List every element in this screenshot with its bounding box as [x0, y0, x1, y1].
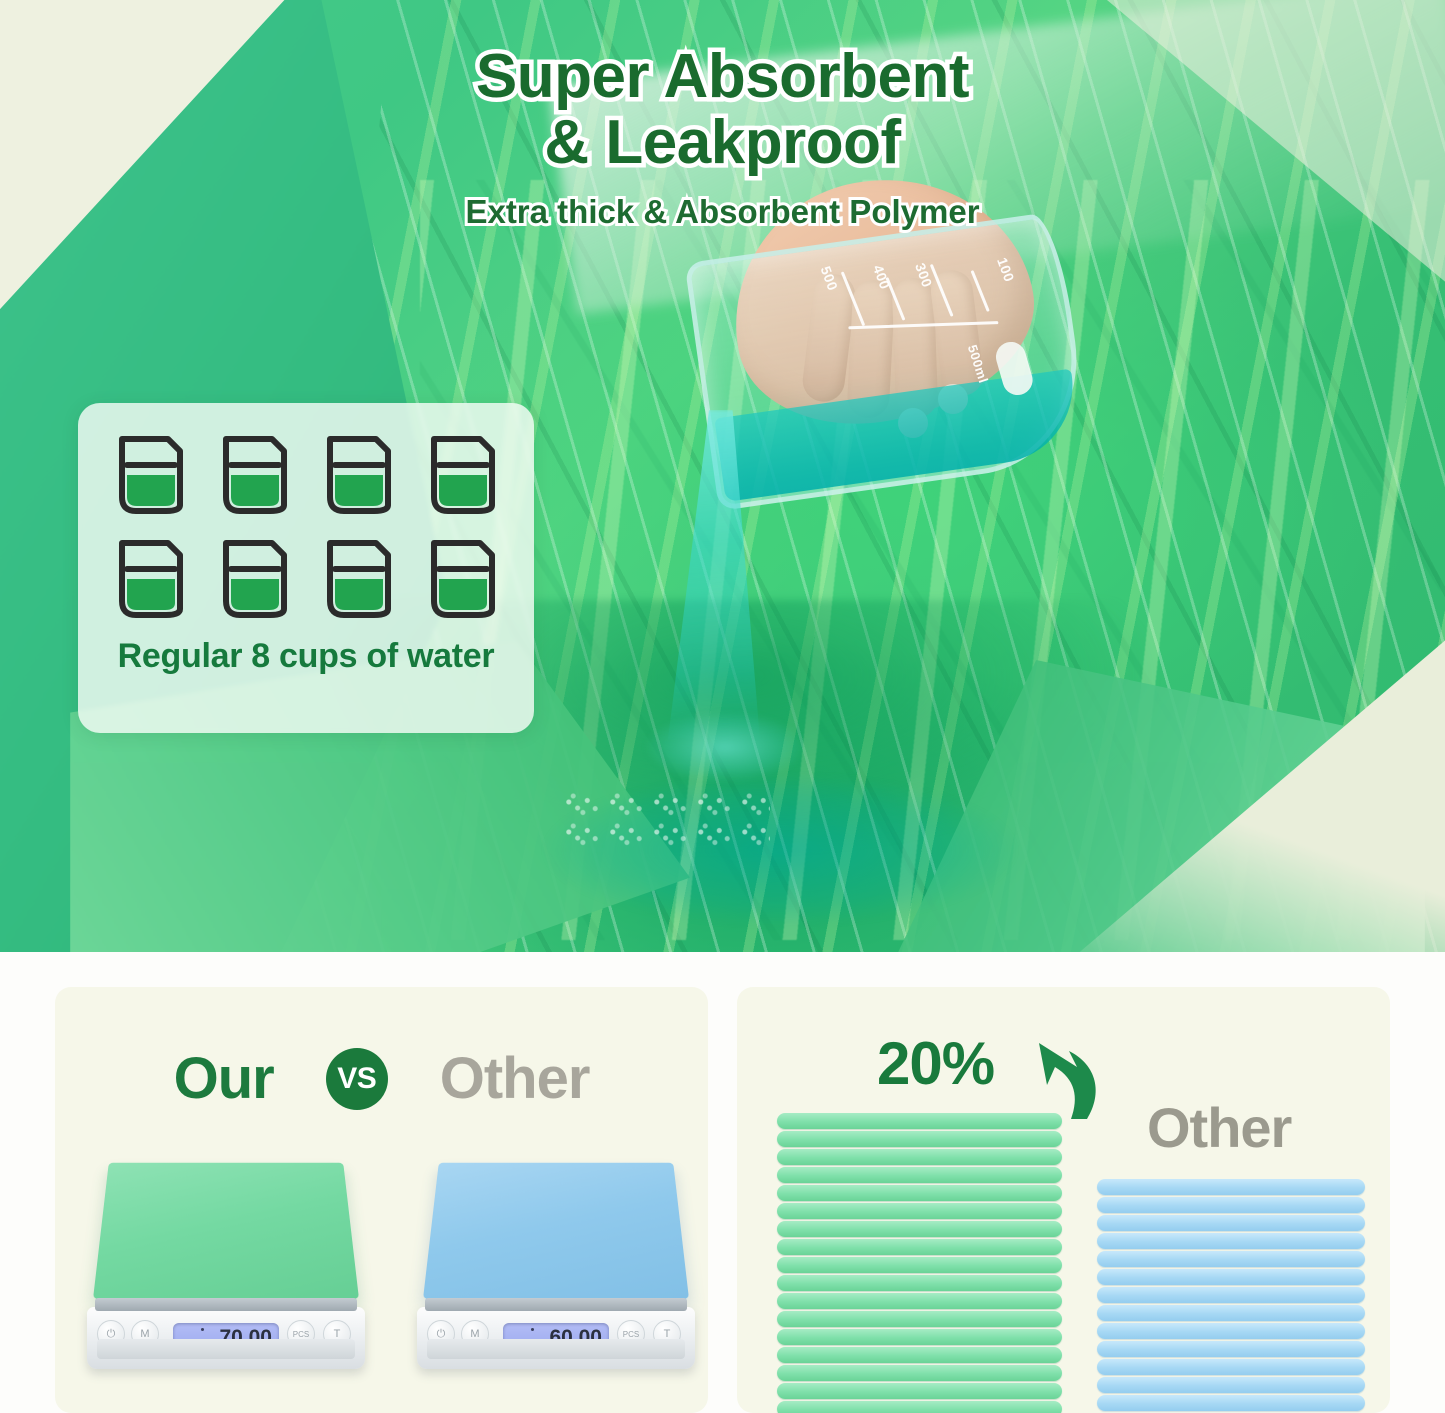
- other-label-thickness: Other: [1147, 1095, 1291, 1160]
- graduation-mark: [930, 264, 954, 317]
- scale-our: 70.00 ⏻ 开关 M 单位 PCS 计数 T 清零: [87, 1117, 365, 1395]
- stack-our-pads: [777, 1113, 1062, 1413]
- pad-layer: [777, 1203, 1062, 1219]
- headline-line-1: Super Absorbent: [476, 42, 969, 111]
- page-title: Super Absorbent & Leakproof: [0, 44, 1445, 175]
- hero-text-block: Super Absorbent & Leakproof Extra thick …: [0, 44, 1445, 231]
- pad-layer: [777, 1293, 1062, 1309]
- beaker-scene: 500 400 300 100 500ml: [700, 232, 1100, 532]
- scale-plate: [425, 1298, 687, 1311]
- graduation-label-100: 100: [994, 255, 1018, 284]
- pad-sample-blue: [423, 1163, 689, 1299]
- beaker-cup-icon: [426, 429, 498, 519]
- liquid-splash: [630, 702, 820, 792]
- beaker-cup-icon: [114, 533, 186, 623]
- graduation-baseline: [848, 321, 998, 329]
- headline-line-2: & Leakproof: [0, 110, 1445, 176]
- scale-body: 60.00 ⏻ 开关 M 单位 PCS 计数 T 清零: [417, 1307, 695, 1369]
- pad-layer: [1097, 1395, 1365, 1411]
- scale-base: [427, 1339, 685, 1359]
- beaker-cup-icon: [218, 533, 290, 623]
- beaker-capacity-label: 500ml: [965, 343, 991, 385]
- glass-beaker: 500 400 300 100 500ml: [684, 211, 1091, 511]
- pad-layer: [777, 1131, 1062, 1147]
- other-label: Other: [440, 1045, 590, 1112]
- pad-layer: [777, 1275, 1062, 1291]
- our-label: Our: [174, 1045, 274, 1112]
- pad-layer: [777, 1383, 1062, 1399]
- scale-base: [97, 1339, 355, 1359]
- pad-layer: [777, 1221, 1062, 1237]
- thickness-comparison-panel: 20% Other: [737, 987, 1390, 1413]
- pad-layer: [1097, 1377, 1365, 1393]
- pad-layer: [777, 1365, 1062, 1381]
- graduation-label-500: 500: [818, 264, 842, 293]
- pad-layer: [777, 1185, 1062, 1201]
- scale-body: 70.00 ⏻ 开关 M 单位 PCS 计数 T 清零: [87, 1307, 365, 1369]
- comparison-header-row: Our VS Other: [55, 1045, 708, 1112]
- stack-other-pads: [1097, 1179, 1365, 1411]
- beaker-cup-icon: [322, 533, 394, 623]
- pad-layer: [1097, 1341, 1365, 1357]
- cups-grid: [104, 429, 508, 623]
- scale-other: 60.00 ⏻ 开关 M 单位 PCS 计数 T 清零: [417, 1117, 695, 1395]
- beaker-cup-icon: [322, 429, 394, 519]
- hero-section: 500 400 300 100 500ml Super Absorbent & …: [0, 0, 1445, 952]
- pad-layer: [777, 1149, 1062, 1165]
- beaker-cup-icon: [426, 533, 498, 623]
- pad-layer: [777, 1329, 1062, 1345]
- beaker-cup-icon: [114, 429, 186, 519]
- pad-layer: [777, 1401, 1062, 1413]
- pad-layer: [1097, 1305, 1365, 1321]
- pad-sample-green: [93, 1163, 359, 1299]
- vs-badge: VS: [326, 1048, 388, 1110]
- cups-caption: Regular 8 cups of water: [104, 637, 508, 676]
- beaker-cup-icon: [218, 429, 290, 519]
- pad-layer: [777, 1167, 1062, 1183]
- liquid-foam-bubbles: [560, 790, 770, 850]
- pad-layer: [1097, 1179, 1365, 1195]
- graduation-label-400: 400: [870, 263, 894, 292]
- graduation-mark: [971, 270, 990, 312]
- pad-layer: [1097, 1197, 1365, 1213]
- pad-layer: [1097, 1233, 1365, 1249]
- page-subtitle: Extra thick & Absorbent Polymer: [0, 193, 1445, 231]
- pad-layer: [1097, 1215, 1365, 1231]
- pad-layer: [1097, 1287, 1365, 1303]
- bottom-section: Our VS Other 70.00 ⏻ 开关 M 单位 PCS 计数: [0, 952, 1445, 1413]
- pad-layer: [777, 1239, 1062, 1255]
- pad-layer: [777, 1311, 1062, 1327]
- pad-layer: [1097, 1269, 1365, 1285]
- pad-layer: [1097, 1323, 1365, 1339]
- pad-layer: [1097, 1359, 1365, 1375]
- weight-comparison-panel: Our VS Other 70.00 ⏻ 开关 M 单位 PCS 计数: [55, 987, 708, 1413]
- pad-layer: [1097, 1251, 1365, 1267]
- cups-badge-card: Regular 8 cups of water: [78, 403, 534, 733]
- graduation-mark: [841, 271, 866, 326]
- pad-layer: [777, 1113, 1062, 1129]
- pad-layer: [777, 1257, 1062, 1273]
- scale-plate: [95, 1298, 357, 1311]
- pad-layer: [777, 1347, 1062, 1363]
- percent-label: 20%: [877, 1029, 994, 1098]
